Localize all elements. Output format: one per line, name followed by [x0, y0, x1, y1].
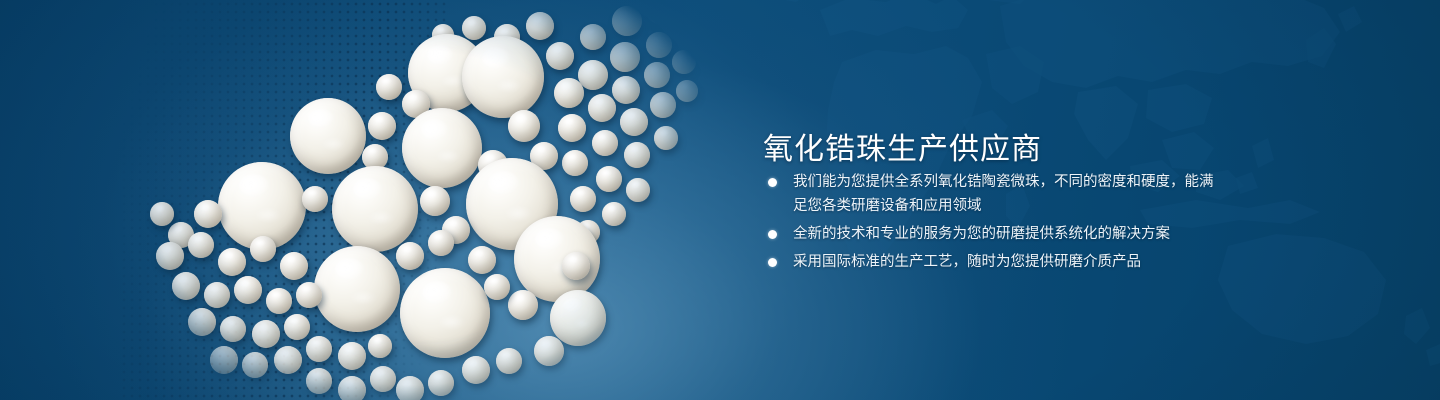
- beads-cluster: [110, 0, 750, 400]
- list-item: 采用国际标准的生产工艺，随时为您提供研磨介质产品: [763, 250, 1223, 274]
- list-item-label: 全新的技术和专业的服务为您的研磨提供系统化的解决方案: [793, 222, 1223, 246]
- banner-text-block: 氧化锆珠生产供应商 我们能为您提供全系列氧化锆陶瓷微珠，不同的密度和硬度，能满足…: [763, 0, 1233, 400]
- list-item-label: 采用国际标准的生产工艺，随时为您提供研磨介质产品: [793, 250, 1223, 274]
- hero-banner: 氧化锆珠生产供应商 我们能为您提供全系列氧化锆陶瓷微珠，不同的密度和硬度，能满足…: [0, 0, 1440, 400]
- zirconia-beads-photo: [110, 0, 750, 400]
- list-item: 全新的技术和专业的服务为您的研磨提供系统化的解决方案: [763, 222, 1223, 246]
- bullet-dot-icon: [768, 258, 777, 267]
- list-item: 我们能为您提供全系列氧化锆陶瓷微珠，不同的密度和硬度，能满足您各类研磨设备和应用…: [763, 170, 1223, 218]
- list-item-label: 我们能为您提供全系列氧化锆陶瓷微珠，不同的密度和硬度，能满足您各类研磨设备和应用…: [793, 170, 1223, 218]
- page-title: 氧化锆珠生产供应商: [763, 132, 1042, 168]
- bullet-dot-icon: [768, 230, 777, 239]
- bullet-dot-icon: [768, 178, 777, 187]
- feature-list: 我们能为您提供全系列氧化锆陶瓷微珠，不同的密度和硬度，能满足您各类研磨设备和应用…: [763, 170, 1223, 278]
